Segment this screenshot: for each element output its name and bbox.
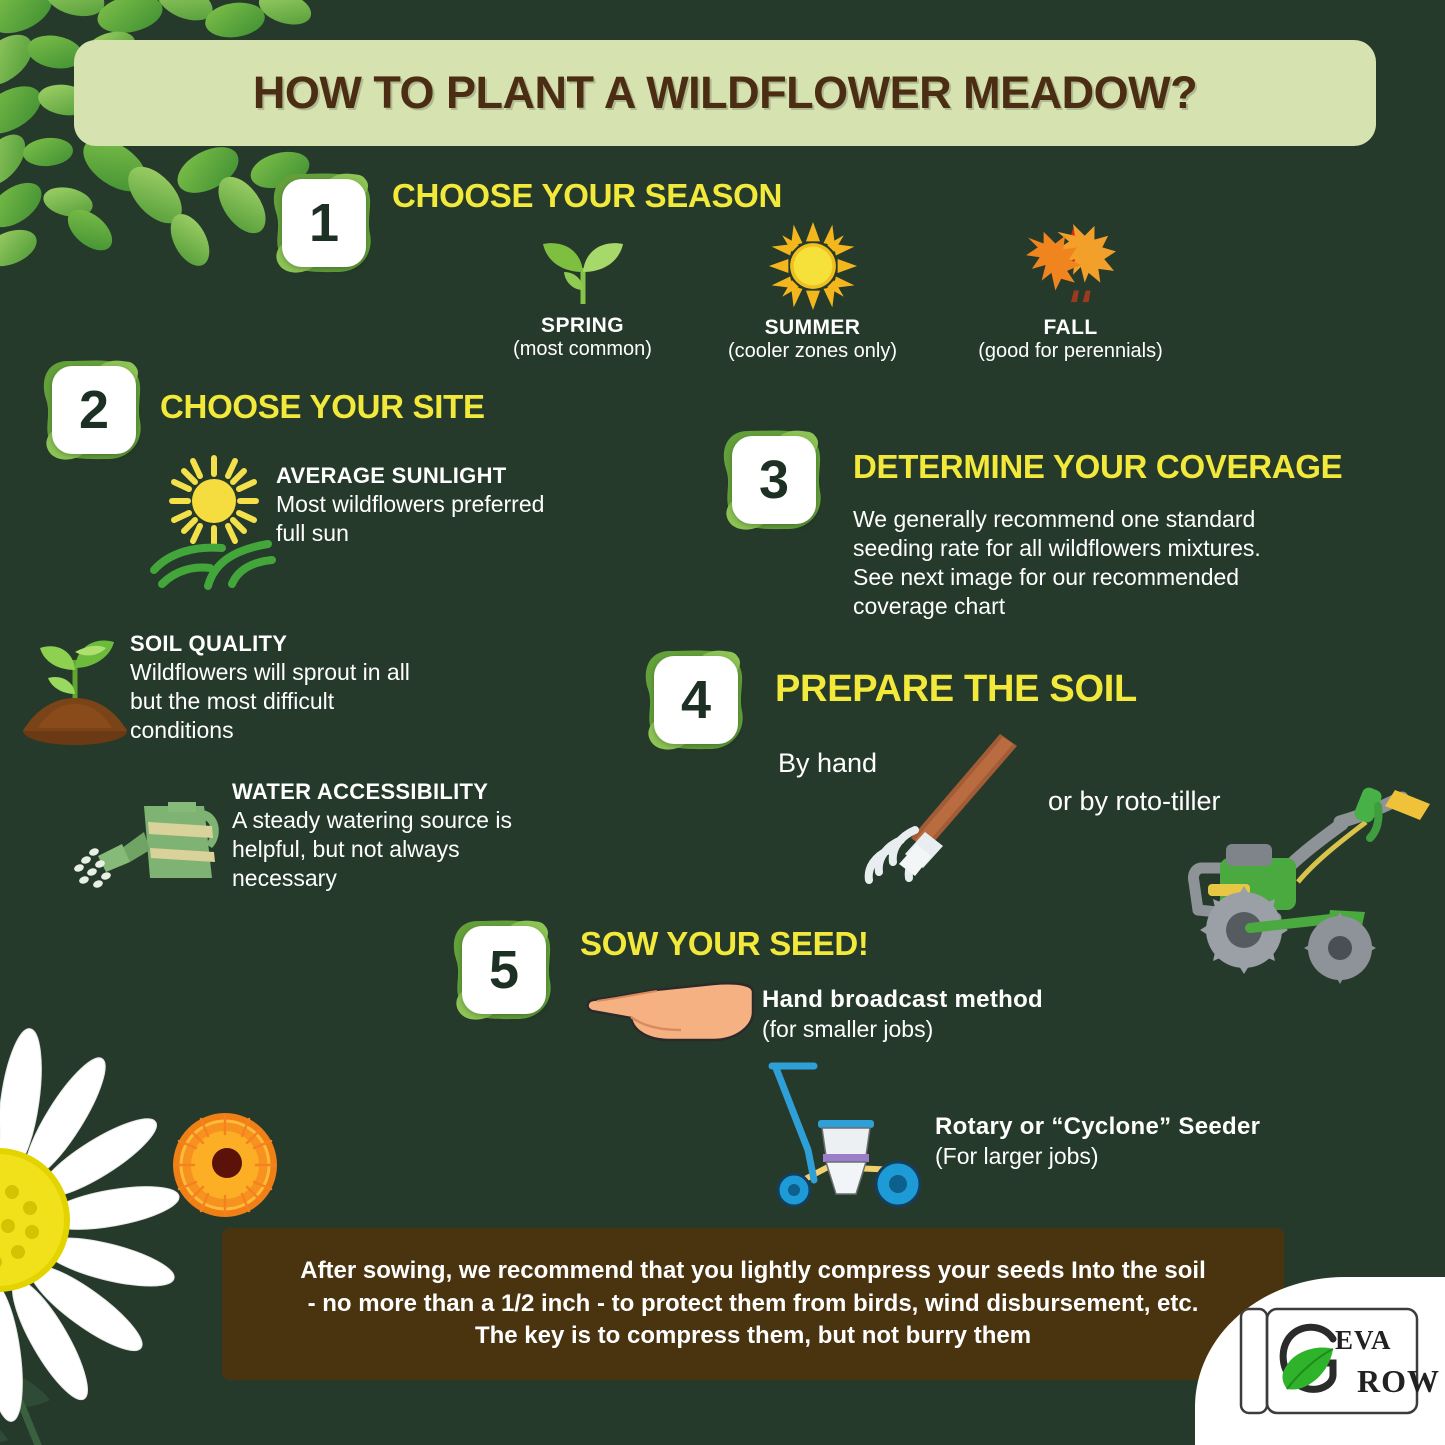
step-3-number: 3	[732, 436, 816, 524]
step-1-badge: 1	[268, 168, 378, 278]
footer-line-2: - no more than a 1/2 inch - to protect t…	[308, 1288, 1199, 1320]
sow-method-hand: Hand broadcast method (for smaller jobs)	[762, 985, 1182, 1044]
season-name: FALL	[958, 316, 1183, 340]
site-item-soil: SOIL QUALITY Wildflowers will sprout in …	[130, 630, 560, 745]
season-card-fall: FALL (good for perennials)	[958, 222, 1183, 363]
site-item-body: Wildflowers will sprout in all but the m…	[130, 659, 410, 743]
calendula-flower-decoration	[168, 1108, 283, 1223]
geva-grow-logo-icon	[1237, 1301, 1427, 1421]
step-5-heading: SOW YOUR SEED!	[580, 925, 869, 963]
sow-method-title: Rotary or “Cyclone” Seeder	[935, 1112, 1365, 1142]
site-item-body: A steady watering source is helpful, but…	[232, 807, 512, 891]
open-hand-icon	[585, 968, 765, 1048]
season-name: SUMMER	[700, 316, 925, 340]
step-3-badge: 3	[718, 425, 828, 535]
sow-method-rotary: Rotary or “Cyclone” Seeder (For larger j…	[935, 1112, 1365, 1171]
step-2-badge: 2	[38, 355, 148, 465]
step-4-badge: 4	[640, 645, 750, 755]
season-note: (good for perennials)	[958, 340, 1183, 363]
sprout-in-soil-icon	[18, 618, 133, 743]
prepare-method-by-hand-label: By hand	[778, 748, 877, 779]
step-5-badge: 5	[448, 915, 558, 1025]
maple-leaves-icon	[1011, 222, 1131, 310]
footer-line-3: The key is to compress them, but not bur…	[475, 1320, 1031, 1352]
daisy-flower-decoration	[0, 1040, 220, 1445]
season-note: (cooler zones only)	[700, 340, 925, 363]
site-item-body: Most wildflowers preferred full sun	[276, 491, 544, 546]
page-title-banner: HOW TO PLANT A WILDFLOWER MEADOW?	[74, 40, 1376, 146]
site-item-title: WATER ACCESSIBILITY	[232, 778, 652, 806]
sow-method-title: Hand broadcast method	[762, 985, 1182, 1015]
step-3-heading: DETERMINE YOUR COVERAGE	[853, 448, 1342, 486]
logo-word-bottom: ROW	[1357, 1363, 1440, 1400]
site-item-title: AVERAGE SUNLIGHT	[276, 462, 696, 490]
sun-over-grass-icon	[148, 452, 278, 587]
footer-line-1: After sowing, we recommend that you ligh…	[300, 1255, 1206, 1287]
infographic-root: HOW TO PLANT A WILDFLOWER MEADOW? 1 CHOO…	[0, 0, 1445, 1445]
step-2-heading: CHOOSE YOUR SITE	[160, 388, 485, 426]
rotary-seeder-icon	[750, 1062, 935, 1207]
step-4-number: 4	[654, 656, 738, 744]
step-4-heading: PREPARE THE SOIL	[775, 668, 1137, 711]
page-title: HOW TO PLANT A WILDFLOWER MEADOW?	[253, 67, 1197, 119]
watering-can-icon	[72, 792, 227, 892]
seedling-icon	[533, 228, 633, 306]
site-item-water: WATER ACCESSIBILITY A steady watering so…	[232, 778, 652, 893]
footer-note-box: After sowing, we recommend that you ligh…	[222, 1228, 1284, 1380]
sow-method-note: (For larger jobs)	[935, 1143, 1099, 1169]
step-5-number: 5	[462, 926, 546, 1014]
season-name: SPRING	[470, 314, 695, 338]
season-card-spring: SPRING (most common)	[470, 228, 695, 361]
site-item-title: SOIL QUALITY	[130, 630, 560, 658]
step-2-number: 2	[52, 366, 136, 454]
step-1-number: 1	[282, 179, 366, 267]
site-item-sunlight: AVERAGE SUNLIGHT Most wildflowers prefer…	[276, 462, 696, 548]
logo-word-top: EVA	[1335, 1325, 1392, 1356]
step-3-body: We generally recommend one standard seed…	[853, 505, 1413, 621]
step-1-heading: CHOOSE YOUR SEASON	[392, 177, 782, 215]
season-note: (most common)	[470, 338, 695, 361]
sow-method-note: (for smaller jobs)	[762, 1016, 933, 1042]
season-card-summer: SUMMER (cooler zones only)	[700, 222, 925, 363]
rake-icon	[845, 728, 1060, 888]
prepare-method-roto-tiller-label: or by roto-tiller	[1048, 786, 1221, 817]
sun-icon	[763, 222, 863, 310]
